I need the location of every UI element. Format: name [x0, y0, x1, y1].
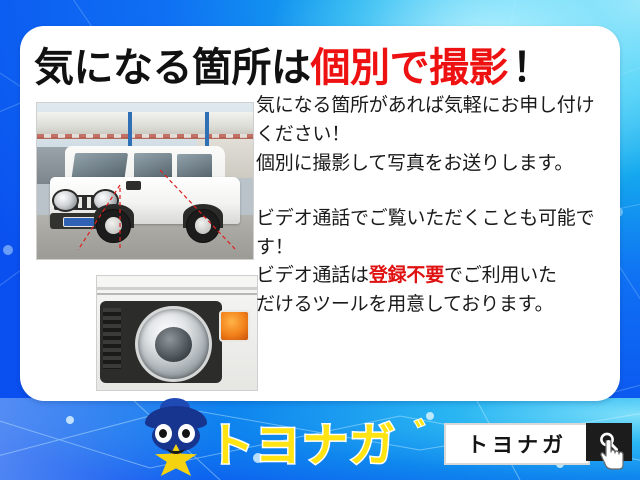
headlight-photo-scene: [97, 276, 257, 390]
search-input-value: トヨナガ: [467, 429, 567, 459]
side-mirror: [126, 181, 141, 189]
grille-vent: [103, 308, 121, 370]
rear-wheel: [187, 210, 219, 243]
mascot-eye-left: [155, 424, 172, 443]
brand-logo-dakuten: ゛: [415, 410, 445, 454]
white-suv: [50, 150, 240, 240]
round-headlight: [135, 306, 211, 383]
p2-line2: す！: [256, 234, 598, 263]
p1-line3: 個別に撮影して写真をお送りします。: [256, 150, 598, 179]
search-input[interactable]: トヨナガ: [444, 423, 590, 465]
p2-line3-after: でご利用いた: [444, 265, 557, 286]
hood-trim-line-2: [97, 293, 257, 295]
body-copy: 気になる箇所があれば気軽にお申し付け ください！ 個別に撮影して写真をお送りしま…: [256, 92, 598, 320]
paragraph-photo-request: 気になる箇所があれば気軽にお申し付け ください！ 個別に撮影して写真をお送りしま…: [256, 92, 598, 179]
p2-highlight-no-registration: 登録不要: [369, 265, 444, 286]
p2-line1: ビデオ通話でご覧いただくことも可能で: [256, 205, 598, 234]
headline-highlight: 個別で撮影: [311, 35, 509, 93]
p2-line4: だけるツールを用意しております。: [256, 291, 598, 320]
mascot-eye-right: [178, 424, 195, 443]
license-plate: [63, 217, 97, 227]
p1-line2: ください！: [256, 121, 598, 150]
p1-line1: 気になる箇所があれば気軽にお申し付け: [256, 92, 598, 121]
paragraph-video-call: ビデオ通話でご覧いただくことも可能で す！ ビデオ通話は登録不要でご利用いた だ…: [256, 205, 598, 321]
toyonaga-mascot: [143, 404, 209, 476]
headlight-left: [52, 189, 79, 212]
turn-signal-lamp: [219, 310, 250, 341]
front-wheel: [97, 210, 129, 243]
hand-pointer-icon: [600, 440, 626, 470]
mascot-smile: [167, 442, 185, 454]
vehicle-photo-scene: [37, 103, 253, 259]
brand-logo-text: トヨナガ: [208, 409, 396, 475]
canopy-edge: [37, 134, 253, 138]
ad-banner: 気になる箇所は個別で撮影！: [0, 0, 640, 480]
p2-line3-before: ビデオ通話は: [256, 265, 369, 286]
headlight-closeup-photo[interactable]: [96, 275, 258, 391]
vehicle-exterior-photo[interactable]: [36, 102, 254, 260]
page-title: 気になる箇所は個別で撮影！: [34, 34, 606, 94]
headline-plain: 気になる箇所は: [34, 35, 311, 93]
hood-trim-line: [97, 287, 257, 290]
p2-line3: ビデオ通話は登録不要でご利用いた: [256, 262, 598, 291]
headline-exclamation: ！: [508, 35, 552, 93]
